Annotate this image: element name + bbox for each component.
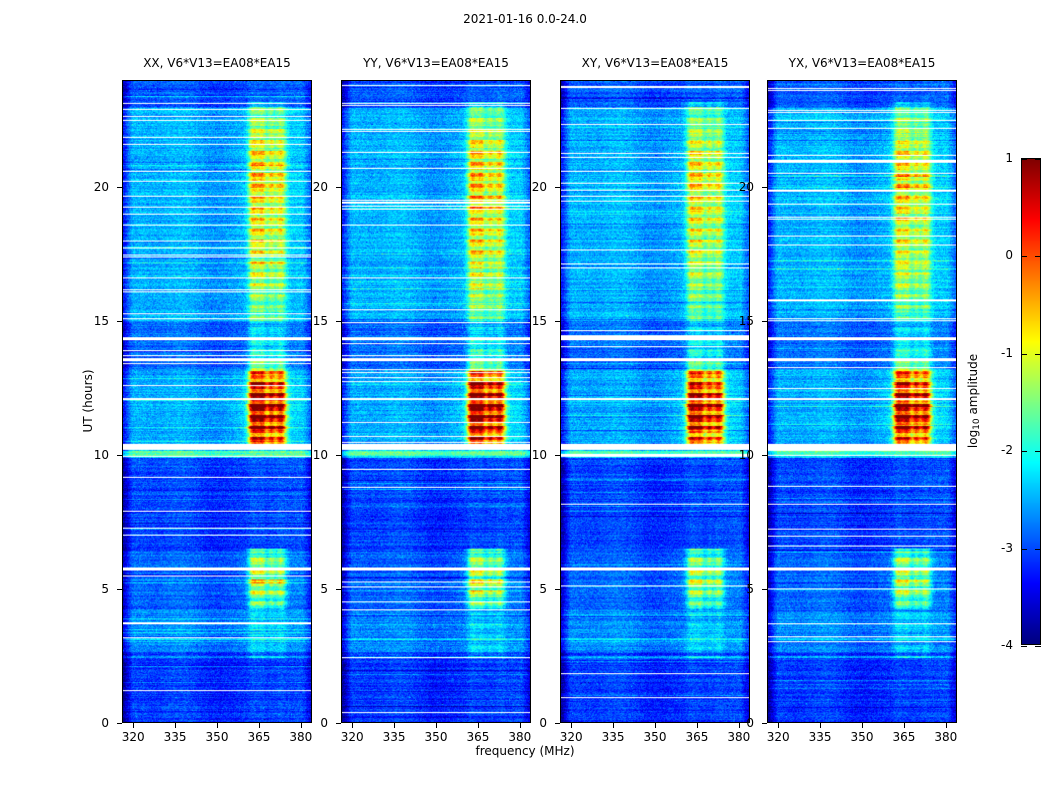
colorbar-tick <box>1035 256 1041 257</box>
x-tick <box>946 723 947 728</box>
y-tick <box>336 455 341 456</box>
panel-frame-yx <box>767 80 957 723</box>
x-tick <box>778 723 779 728</box>
y-tick <box>555 723 560 724</box>
x-tick-label: 350 <box>425 730 448 744</box>
y-tick-label: 5 <box>539 582 554 596</box>
y-tick-label: 5 <box>320 582 335 596</box>
x-tick-label: 320 <box>341 730 364 744</box>
colorbar-tick-label: -4 <box>1001 638 1013 652</box>
x-tick-label: 365 <box>685 730 708 744</box>
x-tick-label: 320 <box>767 730 790 744</box>
y-tick-label: 0 <box>320 716 335 730</box>
colorbar-tick-label: 1 <box>1005 151 1013 165</box>
colorbar-tick <box>1035 159 1041 160</box>
colorbar-tick <box>1021 549 1027 550</box>
y-tick <box>762 723 767 724</box>
y-tick <box>555 589 560 590</box>
y-tick <box>555 187 560 188</box>
panel-frame-xy <box>560 80 750 723</box>
y-tick <box>555 455 560 456</box>
colorbar-tick-label: -3 <box>1001 541 1013 555</box>
x-tick <box>739 723 740 728</box>
x-tick-label: 320 <box>122 730 145 744</box>
x-tick <box>175 723 176 728</box>
x-tick-label: 335 <box>602 730 625 744</box>
y-tick <box>762 455 767 456</box>
colorbar-tick <box>1021 256 1027 257</box>
y-tick-label: 15 <box>94 314 116 328</box>
waterfall-image-xx <box>123 81 311 722</box>
y-tick <box>117 187 122 188</box>
y-tick-label: 10 <box>313 448 335 462</box>
x-tick-label: 365 <box>892 730 915 744</box>
y-tick-label: 10 <box>739 448 761 462</box>
y-tick-label: 5 <box>746 582 761 596</box>
x-tick <box>697 723 698 728</box>
x-tick <box>478 723 479 728</box>
y-tick <box>336 723 341 724</box>
panel-title-xx: XX, V6*V13=EA08*EA15 <box>143 56 291 70</box>
colorbar-label-text: log10 amplitude <box>966 354 980 448</box>
waterfall-image-yx <box>768 81 956 722</box>
waterfall-image-xy <box>561 81 749 722</box>
y-tick <box>762 589 767 590</box>
y-tick <box>117 321 122 322</box>
x-tick <box>655 723 656 728</box>
colorbar-label: log10 amplitude <box>966 301 982 501</box>
figure-canvas: 2021-01-16 0.0-24.0 XX, V6*V13=EA08*EA15… <box>0 0 1050 800</box>
x-tick-label: 320 <box>560 730 583 744</box>
colorbar-tick <box>1035 451 1041 452</box>
panel-title-yx: YX, V6*V13=EA08*EA15 <box>789 56 936 70</box>
panel-xx[interactable]: XX, V6*V13=EA08*EA15 <box>122 80 312 723</box>
y-tick <box>117 589 122 590</box>
y-tick <box>336 187 341 188</box>
panel-title-yy: YY, V6*V13=EA08*EA15 <box>363 56 509 70</box>
y-tick-label: 0 <box>101 716 116 730</box>
y-tick-label: 0 <box>539 716 554 730</box>
panel-xy[interactable]: XY, V6*V13=EA08*EA15 <box>560 80 750 723</box>
y-tick-label: 15 <box>739 314 761 328</box>
colorbar-tick-label: -2 <box>1001 443 1013 457</box>
x-tick <box>613 723 614 728</box>
x-axis-label: frequency (MHz) <box>0 744 1050 758</box>
y-tick-label: 20 <box>739 180 761 194</box>
waterfall-image-yy <box>342 81 530 722</box>
y-tick-label: 20 <box>313 180 335 194</box>
y-tick <box>117 723 122 724</box>
x-tick <box>436 723 437 728</box>
colorbar-tick <box>1021 159 1027 160</box>
x-tick-label: 380 <box>934 730 957 744</box>
y-tick <box>762 187 767 188</box>
panel-frame-yy <box>341 80 531 723</box>
x-tick-label: 365 <box>466 730 489 744</box>
figure-suptitle: 2021-01-16 0.0-24.0 <box>0 12 1050 26</box>
y-tick <box>762 321 767 322</box>
colorbar-tick <box>1035 549 1041 550</box>
y-tick <box>336 321 341 322</box>
x-tick <box>862 723 863 728</box>
panel-yy[interactable]: YY, V6*V13=EA08*EA15 <box>341 80 531 723</box>
panel-frame-xx <box>122 80 312 723</box>
x-tick <box>301 723 302 728</box>
x-tick <box>394 723 395 728</box>
x-tick-label: 335 <box>164 730 187 744</box>
x-tick-label: 380 <box>289 730 312 744</box>
colorbar-tick <box>1035 354 1041 355</box>
y-tick-label: 15 <box>532 314 554 328</box>
x-tick-label: 380 <box>727 730 750 744</box>
y-tick-label: 10 <box>94 448 116 462</box>
y-tick-label: 20 <box>532 180 554 194</box>
y-tick-label: 15 <box>313 314 335 328</box>
y-tick-label: 10 <box>532 448 554 462</box>
y-tick-label: 0 <box>746 716 761 730</box>
colorbar-tick <box>1021 451 1027 452</box>
x-tick <box>520 723 521 728</box>
colorbar-gradient <box>1022 159 1040 644</box>
colorbar-tick <box>1035 646 1041 647</box>
x-tick-label: 350 <box>206 730 229 744</box>
panel-yx[interactable]: YX, V6*V13=EA08*EA15 <box>767 80 957 723</box>
colorbar[interactable] <box>1021 158 1041 645</box>
panel-title-xy: XY, V6*V13=EA08*EA15 <box>582 56 729 70</box>
x-tick <box>352 723 353 728</box>
x-tick-label: 350 <box>851 730 874 744</box>
x-tick-label: 350 <box>644 730 667 744</box>
x-tick-label: 380 <box>508 730 531 744</box>
x-tick-label: 335 <box>809 730 832 744</box>
y-tick <box>117 455 122 456</box>
y-tick-label: 20 <box>94 180 116 194</box>
x-tick-label: 335 <box>383 730 406 744</box>
y-tick <box>336 589 341 590</box>
y-tick <box>555 321 560 322</box>
colorbar-tick <box>1021 354 1027 355</box>
colorbar-tick <box>1021 646 1027 647</box>
colorbar-tick-label: -1 <box>1001 346 1013 360</box>
x-tick <box>904 723 905 728</box>
x-tick <box>571 723 572 728</box>
x-tick-label: 365 <box>247 730 270 744</box>
x-tick <box>133 723 134 728</box>
y-axis-label: UT (hours) <box>81 311 95 491</box>
x-tick <box>820 723 821 728</box>
y-tick-label: 5 <box>101 582 116 596</box>
colorbar-tick-label: 0 <box>1005 248 1013 262</box>
x-tick <box>259 723 260 728</box>
x-tick <box>217 723 218 728</box>
